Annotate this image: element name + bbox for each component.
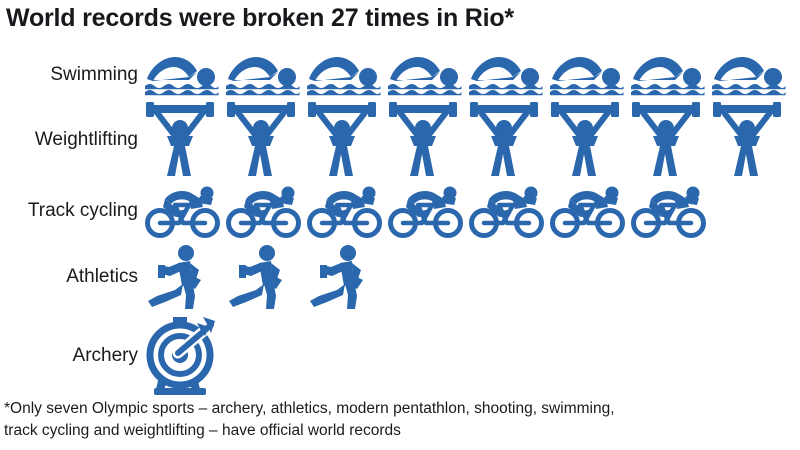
icon-track [138, 183, 800, 239]
footnote: *Only seven Olympic sports – archery, at… [4, 398, 784, 442]
icon-swimmer-icon [712, 53, 793, 97]
icon-cyclist-icon [469, 183, 550, 239]
page-title: World records were broken 27 times in Ri… [6, 4, 514, 33]
row-label-swimming: Swimming [0, 64, 138, 86]
picto-row-swimming: Swimming [0, 50, 800, 100]
icon-swimmer-icon [631, 53, 712, 97]
cyclist-icon [631, 183, 707, 239]
icon-runner-icon [307, 244, 388, 310]
icon-swimmer-icon [145, 53, 226, 97]
swimmer-icon [307, 53, 381, 97]
footnote-line-2: track cycling and weightlifting – have o… [4, 420, 784, 442]
swimmer-icon [469, 53, 543, 97]
icon-cyclist-icon [631, 183, 712, 239]
row-label-athletics: Athletics [0, 266, 138, 288]
weightlifter-icon [226, 102, 296, 178]
cyclist-icon [469, 183, 545, 239]
cyclist-icon [226, 183, 302, 239]
icon-cyclist-icon [145, 183, 226, 239]
icon-weightlifter-icon [226, 102, 307, 178]
icon-swimmer-icon [469, 53, 550, 97]
row-label-weightlifting: Weightlifting [0, 129, 138, 151]
pictogram-chart: SwimmingWeightliftingTrack cyclingAthlet… [0, 50, 800, 400]
icon-swimmer-icon [226, 53, 307, 97]
icon-weightlifter-icon [145, 102, 226, 178]
icon-runner-icon [145, 244, 226, 310]
footnote-line-1: *Only seven Olympic sports – archery, at… [4, 398, 784, 420]
runner-icon [226, 244, 288, 310]
weightlifter-icon [388, 102, 458, 178]
icon-weightlifter-icon [307, 102, 388, 178]
archery-target-icon [145, 315, 219, 397]
swimmer-icon [550, 53, 624, 97]
swimmer-icon [226, 53, 300, 97]
cyclist-icon [145, 183, 221, 239]
weightlifter-icon [550, 102, 620, 178]
swimmer-icon [712, 53, 786, 97]
icon-weightlifter-icon [388, 102, 469, 178]
weightlifter-icon [712, 102, 782, 178]
icon-weightlifter-icon [469, 102, 550, 178]
runner-icon [307, 244, 369, 310]
icon-swimmer-icon [307, 53, 388, 97]
icon-swimmer-icon [388, 53, 469, 97]
picto-row-athletics: Athletics [0, 242, 800, 312]
row-label-archery: Archery [0, 345, 138, 367]
icon-cyclist-icon [307, 183, 388, 239]
swimmer-icon [388, 53, 462, 97]
icon-track [138, 244, 800, 310]
weightlifter-icon [631, 102, 701, 178]
icon-track [138, 102, 800, 178]
swimmer-icon [631, 53, 705, 97]
icon-cyclist-icon [226, 183, 307, 239]
icon-track [138, 315, 800, 397]
picto-row-weightlifting: Weightlifting [0, 100, 800, 180]
row-label-track-cycling: Track cycling [0, 200, 138, 222]
icon-cyclist-icon [550, 183, 631, 239]
icon-weightlifter-icon [712, 102, 793, 178]
icon-weightlifter-icon [550, 102, 631, 178]
picto-row-archery: Archery [0, 312, 800, 400]
icon-runner-icon [226, 244, 307, 310]
runner-icon [145, 244, 207, 310]
cyclist-icon [550, 183, 626, 239]
icon-track [138, 53, 800, 97]
weightlifter-icon [307, 102, 377, 178]
picto-row-track-cycling: Track cycling [0, 180, 800, 242]
weightlifter-icon [469, 102, 539, 178]
swimmer-icon [145, 53, 219, 97]
cyclist-icon [307, 183, 383, 239]
icon-weightlifter-icon [631, 102, 712, 178]
icon-cyclist-icon [388, 183, 469, 239]
icon-archery-target-icon [145, 315, 226, 397]
icon-swimmer-icon [550, 53, 631, 97]
weightlifter-icon [145, 102, 215, 178]
cyclist-icon [388, 183, 464, 239]
